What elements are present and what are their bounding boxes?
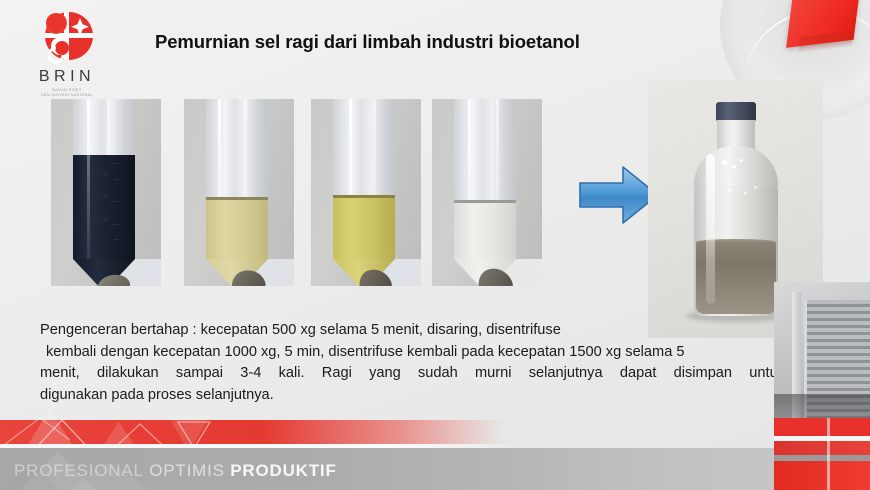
brin-logo-mark xyxy=(36,8,98,66)
slogan-word-profesional: PROFESIONAL xyxy=(14,461,144,480)
tube-1-graduation-15: 15 xyxy=(103,194,109,200)
tube-photo-2 xyxy=(184,99,294,286)
tube-1-graduation-minor-2 xyxy=(114,239,119,240)
bottle-bubble-4 xyxy=(728,188,732,192)
bottle-bubble-1 xyxy=(722,160,727,165)
tube-photo-4 xyxy=(432,99,542,286)
bottle-bubble-6 xyxy=(754,186,757,189)
body-line-1: Pengenceran bertahap : kecepatan 500 xg … xyxy=(40,320,792,342)
tube-1-graduation-10: 10 xyxy=(103,217,109,223)
slide-title: Pemurnian sel ragi dari limbah industri … xyxy=(155,31,755,53)
bottle-cap xyxy=(716,102,756,122)
slogan-word-optimis: OPTIMIS xyxy=(149,461,225,480)
tube-3-meniscus xyxy=(333,195,395,198)
brin-subtitle-line2: DAN INOVASI NASIONAL xyxy=(41,93,93,97)
brin-wordmark: BRIN xyxy=(18,68,116,86)
tube-photo-1: 20 15 10 xyxy=(51,99,161,286)
body-text: Pengenceran bertahap : kecepatan 500 xg … xyxy=(40,320,792,406)
body-line-3: menit, dilakukan sampai 3-4 kali. Ragi y… xyxy=(40,363,785,385)
footer-right-red-2 xyxy=(774,441,870,455)
body-line-4: digunakan pada proses selanjutnya. xyxy=(40,385,792,407)
tube-1-graduation-20: 20 xyxy=(103,172,109,178)
brin-subtitle: BADAN RISET DAN INOVASI NASIONAL xyxy=(18,88,116,99)
tube-3-body xyxy=(333,99,395,259)
slogan-word-produktif: PRODUKTIF xyxy=(230,461,336,480)
bottle-highlight xyxy=(706,154,715,304)
tube-2-meniscus xyxy=(206,197,268,200)
footer-right-red-1 xyxy=(774,418,870,436)
footer-slogan: PROFESIONAL OPTIMIS PRODUKTIF xyxy=(14,461,434,481)
tube-1-graduation-mark-3 xyxy=(110,224,119,225)
tube-1-graduation-mark xyxy=(110,163,119,164)
tube-1-liquid xyxy=(73,155,135,259)
bottle-bubble-5 xyxy=(744,192,747,195)
bottle-bubble-2 xyxy=(732,165,736,169)
slide-canvas: BRIN BADAN RISET DAN INOVASI NASIONAL Pe… xyxy=(0,0,870,490)
body-line-2: kembali dengan kecepatan 1000 xg, 5 min,… xyxy=(40,342,792,364)
footer-right-white-divider xyxy=(827,418,830,490)
tube-1-liquid-highlight xyxy=(87,155,90,259)
tube-4-body xyxy=(454,99,516,259)
brin-logo-svg xyxy=(36,8,98,66)
tube-4-meniscus xyxy=(454,200,516,203)
tube-photo-3 xyxy=(311,99,421,286)
brin-subtitle-line1: BADAN RISET xyxy=(52,88,81,92)
tube-1-graduation-minor xyxy=(114,179,119,180)
footer-right-red-3 xyxy=(774,461,870,490)
tube-1-body: 20 15 10 xyxy=(73,99,135,259)
tube-4-liquid xyxy=(454,203,516,259)
brin-logo: BRIN BADAN RISET DAN INOVASI NASIONAL xyxy=(18,8,116,94)
product-bottle xyxy=(684,102,788,324)
tube-2-body xyxy=(206,99,268,259)
tube-3-liquid xyxy=(333,197,395,259)
tube-2-liquid xyxy=(206,199,268,259)
tube-1-graduation-mark-2 xyxy=(110,201,119,202)
bottle-bubble-3 xyxy=(740,159,743,162)
